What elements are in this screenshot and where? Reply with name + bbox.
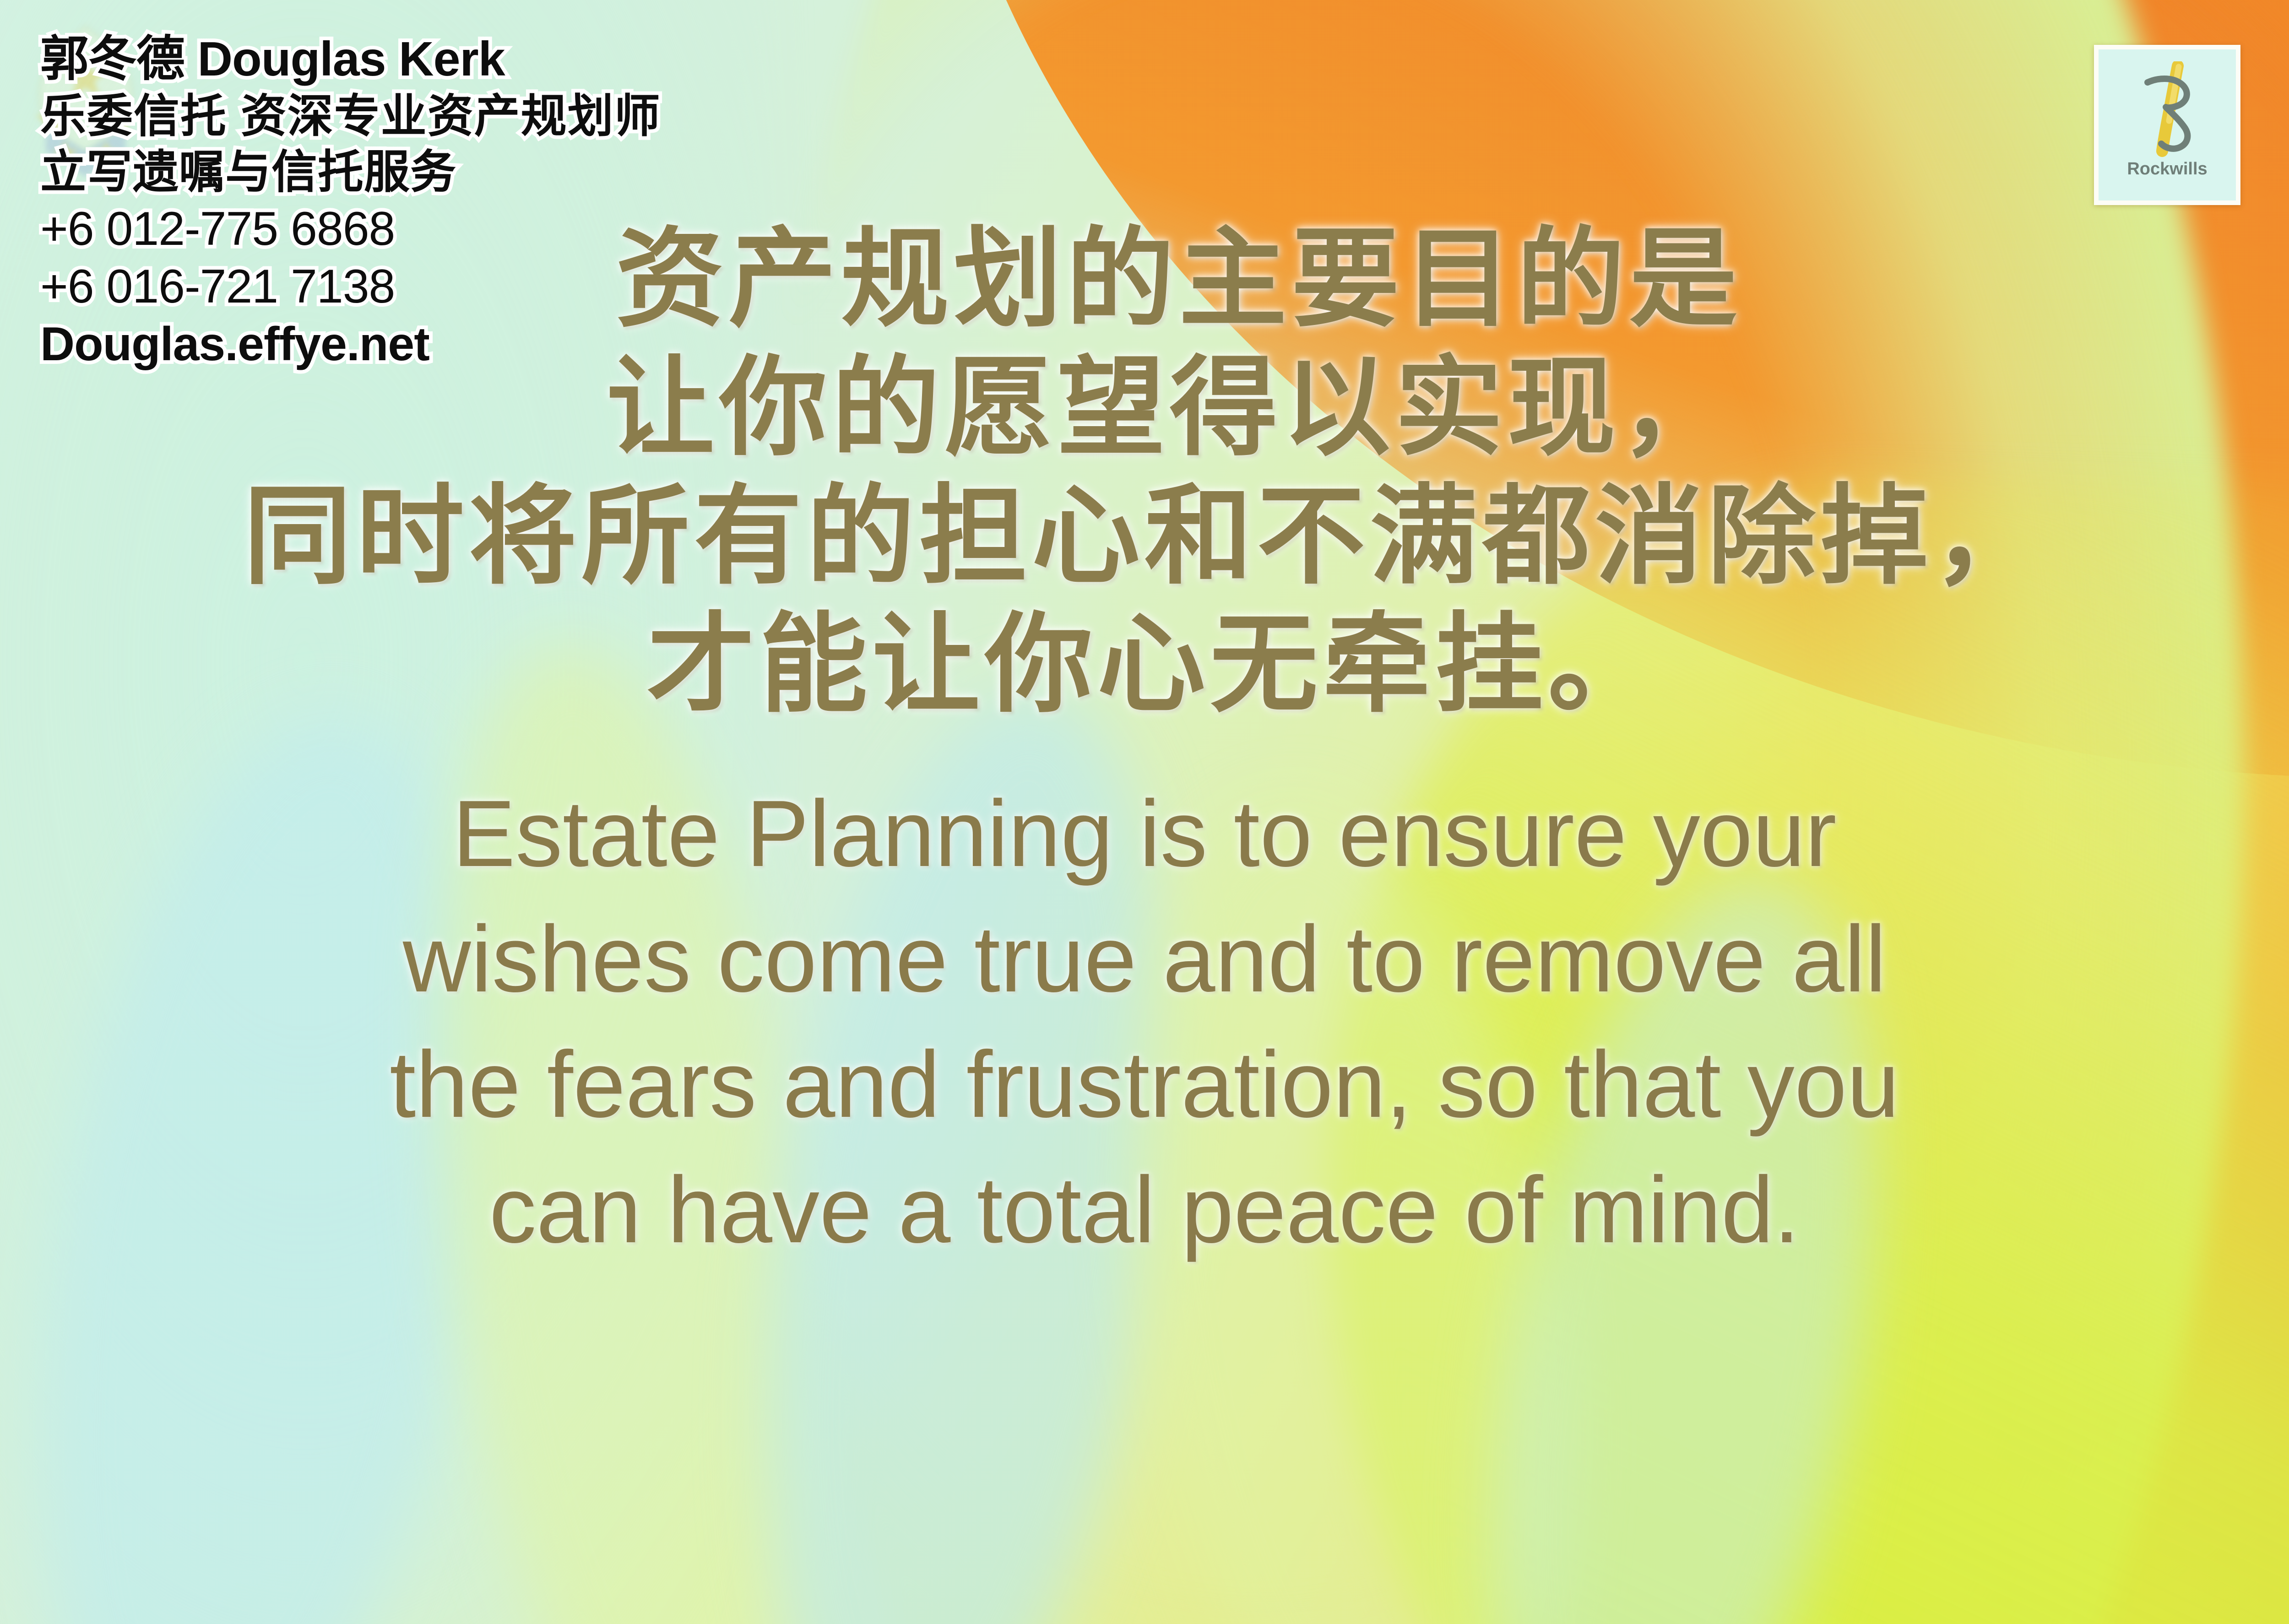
- english-line-4: can have a total peace of mind.: [0, 1148, 2289, 1273]
- agent-phone-secondary[interactable]: +6 016-721 7138: [40, 263, 661, 310]
- rockwills-wordmark: Rockwills: [2127, 159, 2207, 179]
- rockwills-logo-card: Rockwills: [2094, 45, 2240, 205]
- agent-website-link[interactable]: Douglas.effye.net: [40, 320, 661, 368]
- agent-phone-primary[interactable]: +6 012-775 6868: [40, 205, 661, 253]
- agent-role: 乐委信托 资深专业资产规划师: [40, 93, 661, 139]
- contact-info-block: 郭冬德 Douglas Kerk 乐委信托 资深专业资产规划师 立写遗嘱与信托服…: [40, 35, 661, 378]
- chinese-line-3: 同时将所有的担心和不满都消除掉，: [0, 472, 2289, 601]
- english-paragraph: Estate Planning is to ensure your wishes…: [0, 771, 2289, 1273]
- rockwills-r-icon: [2124, 61, 2211, 157]
- slide-canvas: 郭冬德 Douglas Kerk 乐委信托 资深专业资产规划师 立写遗嘱与信托服…: [0, 0, 2289, 1624]
- agent-name: 郭冬德 Douglas Kerk: [40, 35, 661, 83]
- english-line-1: Estate Planning is to ensure your: [0, 771, 2289, 897]
- chinese-line-4: 才能让你心无牵挂。: [0, 601, 2289, 729]
- english-line-2: wishes come true and to remove all: [0, 897, 2289, 1022]
- agent-service: 立写遗嘱与信托服务: [40, 149, 661, 195]
- english-line-3: the fears and frustration, so that you: [0, 1022, 2289, 1148]
